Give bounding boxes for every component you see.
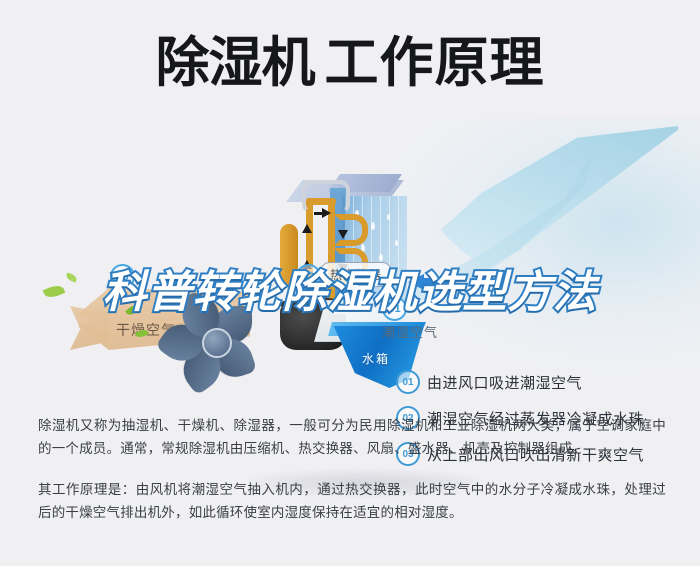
diagram-badge-01: 01: [382, 296, 407, 321]
leaf-icon: [65, 272, 78, 282]
body-paragraph-1: 除湿机又称为抽湿机、干燥机、除湿器，一般可分为民用除湿机和工业除湿机两大类，属于…: [38, 414, 666, 460]
diagram-badge-03: 03: [110, 264, 135, 289]
diagram-badge-02: 02: [296, 264, 321, 289]
page-title-part2: 工作原理: [325, 33, 545, 93]
humid-air-label: 潮湿空气: [382, 322, 438, 341]
body-paragraph-2: 其工作原理是：由风机将潮湿空气抽入机内，通过热交换器，此时空气中的水分子冷凝成水…: [38, 478, 666, 524]
infographic-page: 除湿机工作原理 干燥空气: [0, 0, 700, 566]
condenser-coil: [276, 194, 350, 306]
page-title: 除湿机工作原理: [0, 24, 700, 102]
dehumidifier-diagram: 干燥空气: [0, 118, 700, 400]
list-item: 01 由进风口吸进潮湿空气: [396, 364, 696, 400]
leaf-icon: [43, 282, 66, 300]
page-title-part1: 除湿机: [156, 33, 315, 93]
step-badge: 01: [396, 370, 420, 394]
article-body: 除湿机又称为抽湿机、干燥机、除湿器，一般可分为民用除湿机和工业除湿机两大类，属于…: [38, 414, 666, 524]
fan-icon: [172, 294, 268, 390]
flow-arrow-up-icon: [302, 224, 312, 233]
step-text: 由进风口吸进潮湿空气: [427, 372, 582, 393]
heat-exchanger-callout: 热交换器: [320, 262, 392, 287]
fan-hub: [202, 328, 232, 358]
water-tank-label: 水箱: [362, 350, 390, 367]
flow-arrow-right-icon: [322, 208, 331, 218]
air-intake-arrow: [408, 274, 454, 290]
flow-arrow-down-icon: [338, 230, 348, 239]
